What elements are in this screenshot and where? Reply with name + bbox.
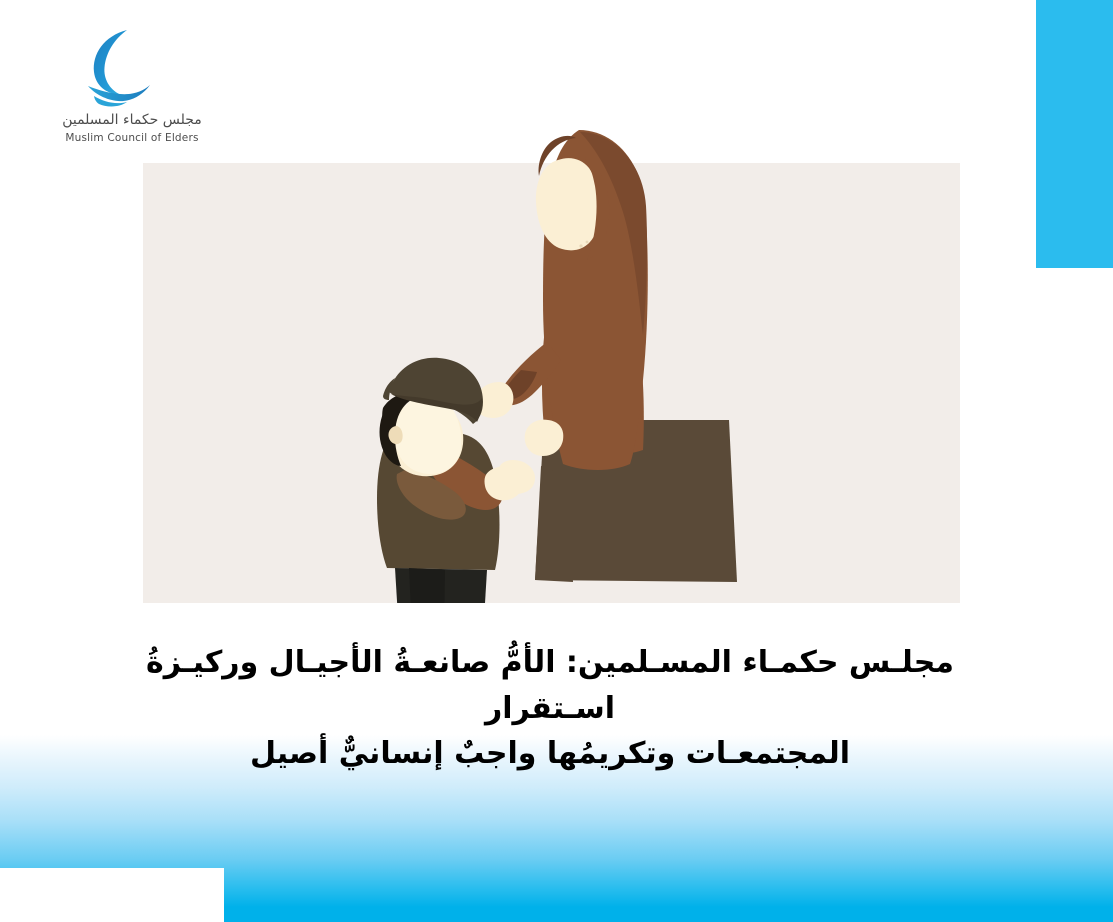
brand-name-english: Muslim Council of Elders — [52, 132, 212, 146]
top-accent-bar — [1036, 0, 1113, 268]
poster-canvas: مجلس حكماء المسلمين Muslim Council of El… — [0, 0, 1113, 922]
brand-logo-text: مجلس حكماء المسلمين Muslim Council of El… — [52, 112, 212, 145]
brand-logo[interactable]: مجلس حكماء المسلمين Muslim Council of El… — [52, 28, 212, 146]
bottom-left-white-block — [0, 868, 224, 922]
illustration-background — [143, 163, 960, 603]
headline-line-2: المجتمعـات وتكريمُها واجبٌ إنسانيٌّ أصيل — [120, 731, 980, 777]
headline-line-1: مجلـس حكمـاء المسـلمين: الأمُّ صانعـةُ ا… — [120, 640, 980, 731]
crescent-moon-wave-icon — [80, 28, 156, 108]
illustration-frame — [143, 163, 960, 603]
brand-name-arabic: مجلس حكماء المسلمين — [52, 112, 212, 130]
headline: مجلـس حكمـاء المسـلمين: الأمُّ صانعـةُ ا… — [120, 640, 980, 777]
